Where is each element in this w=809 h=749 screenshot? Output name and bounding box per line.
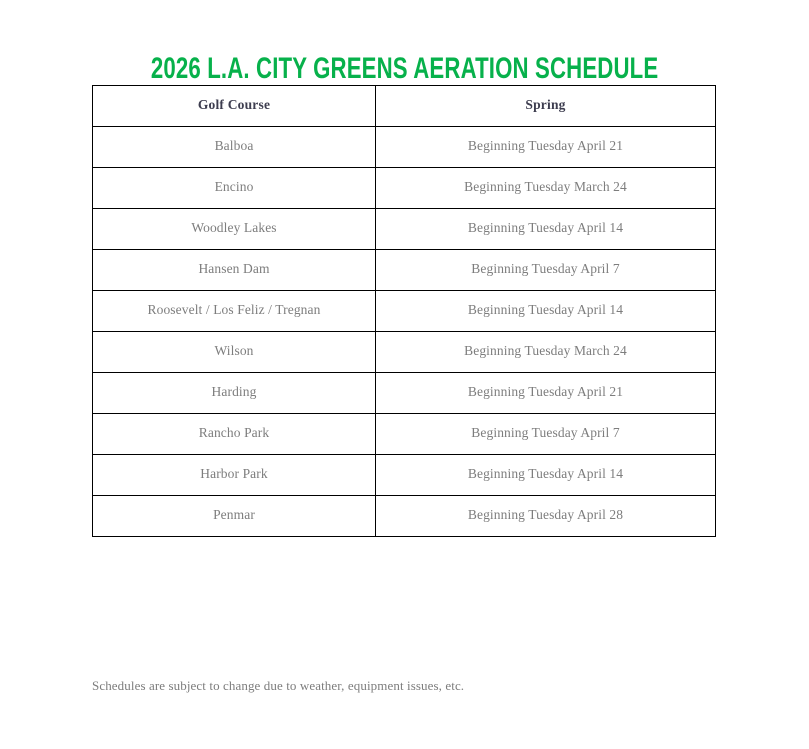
page-title: 2026 L.A. CITY GREENS AERATION SCHEDULE [105,50,704,88]
cell-golf-course: Wilson [93,332,376,373]
table-row: Hansen DamBeginning Tuesday April 7 [93,250,716,291]
cell-golf-course: Rancho Park [93,414,376,455]
table-row: WilsonBeginning Tuesday March 24 [93,332,716,373]
table-row: EncinoBeginning Tuesday March 24 [93,168,716,209]
table-row: HardingBeginning Tuesday April 21 [93,373,716,414]
table-row: PenmarBeginning Tuesday April 28 [93,496,716,537]
table-row: Rancho ParkBeginning Tuesday April 7 [93,414,716,455]
footnote-text: Schedules are subject to change due to w… [92,677,732,695]
cell-golf-course: Encino [93,168,376,209]
table-header-row: Golf Course Spring [93,86,716,127]
cell-golf-course: Woodley Lakes [93,209,376,250]
cell-spring-date: Beginning Tuesday April 14 [376,455,716,496]
cell-spring-date: Beginning Tuesday April 7 [376,414,716,455]
table-row: Harbor ParkBeginning Tuesday April 14 [93,455,716,496]
cell-spring-date: Beginning Tuesday April 14 [376,209,716,250]
cell-spring-date: Beginning Tuesday March 24 [376,332,716,373]
cell-golf-course: Penmar [93,496,376,537]
cell-golf-course: Roosevelt / Los Feliz / Tregnan [93,291,376,332]
cell-spring-date: Beginning Tuesday April 21 [376,373,716,414]
table-row: Woodley LakesBeginning Tuesday April 14 [93,209,716,250]
cell-golf-course: Harding [93,373,376,414]
cell-spring-date: Beginning Tuesday April 14 [376,291,716,332]
schedule-page: 2026 L.A. CITY GREENS AERATION SCHEDULE … [0,0,809,749]
column-header-spring: Spring [376,86,716,127]
column-header-golf-course: Golf Course [93,86,376,127]
cell-golf-course: Harbor Park [93,455,376,496]
cell-spring-date: Beginning Tuesday April 28 [376,496,716,537]
cell-spring-date: Beginning Tuesday April 21 [376,127,716,168]
table-body: BalboaBeginning Tuesday April 21EncinoBe… [93,127,716,537]
cell-spring-date: Beginning Tuesday April 7 [376,250,716,291]
cell-golf-course: Balboa [93,127,376,168]
cell-spring-date: Beginning Tuesday March 24 [376,168,716,209]
aeration-schedule-table: Golf Course Spring BalboaBeginning Tuesd… [92,85,716,537]
table-row: Roosevelt / Los Feliz / TregnanBeginning… [93,291,716,332]
table-header: Golf Course Spring [93,86,716,127]
table-row: BalboaBeginning Tuesday April 21 [93,127,716,168]
cell-golf-course: Hansen Dam [93,250,376,291]
